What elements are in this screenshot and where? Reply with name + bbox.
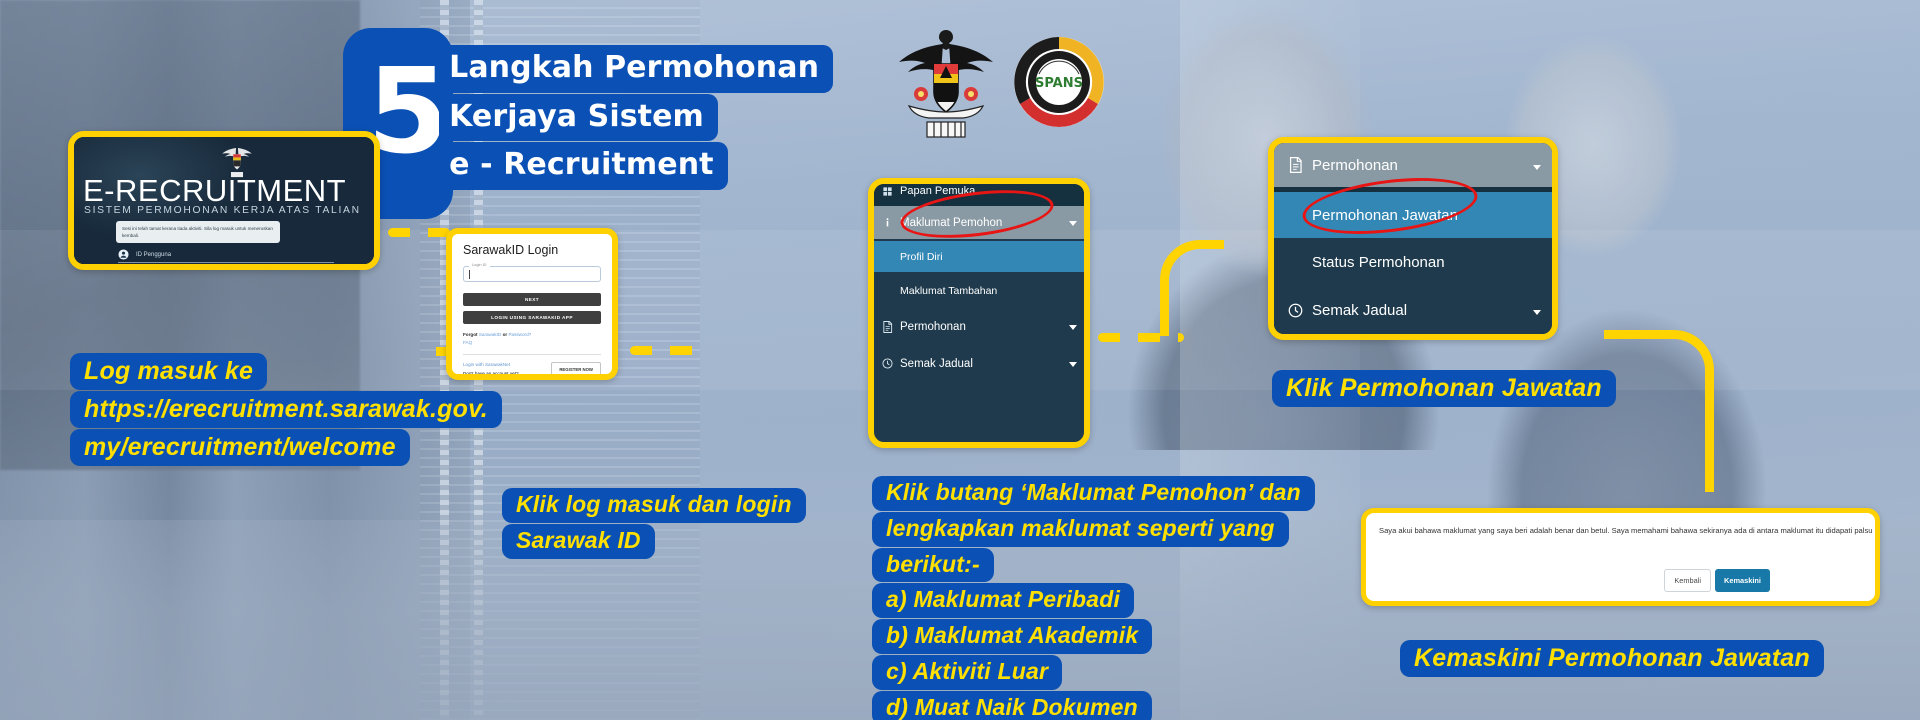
menu-item-permohonan-header[interactable]: Permohonan xyxy=(1274,143,1552,187)
chevron-down-icon-semak-right[interactable] xyxy=(1522,302,1552,319)
caption-mid-line-2: lengkapkan maklumat seperti yang xyxy=(872,512,1289,547)
document-icon-right xyxy=(1278,157,1312,173)
forgot-password-link[interactable]: Password? xyxy=(508,332,531,337)
title-line-3: e - Recruitment xyxy=(439,142,728,190)
caption-permohonan-jawatan: Klik Permohonan Jawatan xyxy=(1272,370,1616,407)
menu-label-papan-pemuka: Papan Pemuka xyxy=(900,185,1084,197)
connector-sid-to-menu xyxy=(630,346,700,355)
erec-session-notice: Sesi ini telah tamat kerana tiada aktivi… xyxy=(116,221,280,243)
caption-sid-line-2: Sarawak ID xyxy=(502,524,655,559)
menu-item-maklumat-pemohon[interactable]: Maklumat Pemohon xyxy=(874,206,1084,239)
permohonan-menu-screenshot[interactable]: Permohonan Permohonan Jawatan Status Per… xyxy=(1268,137,1558,340)
register-now-button[interactable]: REGISTER NOW xyxy=(551,362,601,377)
kemaskini-button[interactable]: Kemaskini xyxy=(1715,569,1770,592)
erec-password-field[interactable]: Kata Laluan xyxy=(118,268,334,270)
sarawak-crest-logo xyxy=(893,22,999,142)
chevron-down-icon-right[interactable] xyxy=(1522,157,1552,174)
caption-sarawak-id: Klik log masuk dan login Sarawak ID xyxy=(502,488,806,560)
caption-login-line-3: my/erecruitment/welcome xyxy=(70,429,410,466)
menu-item-semak-jadual-right[interactable]: Semak Jadual xyxy=(1274,286,1552,334)
chevron-down-icon-semak[interactable] xyxy=(1062,358,1084,370)
caption-kemas-line-1: Kemaskini Permohonan Jawatan xyxy=(1400,640,1824,677)
faq-link[interactable]: FAQ xyxy=(463,340,472,345)
next-button[interactable]: NEXT xyxy=(463,293,601,306)
erec-username-placeholder: ID Pengguna xyxy=(136,252,171,258)
erecruitment-login-screenshot[interactable]: E-RECRUITMENT SISTEM PERMOHONAN KERJA AT… xyxy=(68,131,380,270)
menu-item-profil-diri[interactable]: Profil Diri xyxy=(874,241,1084,272)
sarawakid-title: SarawakID Login xyxy=(463,243,601,257)
text-caret xyxy=(469,270,470,279)
connector-corner-2 xyxy=(1160,240,1224,336)
infographic-canvas: 5 Langkah Permohonan Kerjaya Sistem e - … xyxy=(0,0,1920,720)
menu-label-permohonan-right: Permohonan xyxy=(1312,157,1522,174)
confirmation-text: Saya akui bahawa maklumat yang saya beri… xyxy=(1379,525,1862,538)
caption-login-url: Log masuk ke https://erecruitment.sarawa… xyxy=(70,353,502,467)
connector-corner-3 xyxy=(1604,330,1714,470)
title-line-2: Kerjaya Sistem xyxy=(439,94,718,142)
caption-mid-line-4: a) Maklumat Peribadi xyxy=(872,583,1134,618)
caption-mid-line-7: d) Muat Naik Dokumen xyxy=(872,691,1152,720)
caption-login-line-1: Log masuk ke xyxy=(70,353,267,390)
caption-maklumat-pemohon: Klik butang ‘Maklumat Pemohon’ dan lengk… xyxy=(872,476,1315,720)
connector-right-down xyxy=(1705,430,1714,516)
clock-icon-right xyxy=(1278,303,1312,318)
caption-mid-line-3: berikut:- xyxy=(872,548,994,583)
confirmation-dialog-screenshot[interactable]: Saya akui bahawa maklumat yang saya beri… xyxy=(1361,508,1880,606)
caption-perm-line-1: Klik Permohonan Jawatan xyxy=(1272,370,1616,407)
menu-label-maklumat-tambahan: Maklumat Tambahan xyxy=(900,285,1084,297)
login-id-input[interactable] xyxy=(463,266,601,282)
caption-mid-line-1: Klik butang ‘Maklumat Pemohon’ dan xyxy=(872,476,1315,511)
forgot-or-label: or xyxy=(503,332,508,337)
menu-item-semak-jadual[interactable]: Semak Jadual xyxy=(874,346,1084,381)
menu-label-profil-diri: Profil Diri xyxy=(900,251,1084,263)
erec-brand-title: E-RECRUITMENT xyxy=(83,173,346,209)
chevron-down-icon-permohonan[interactable] xyxy=(1062,321,1084,333)
title-line-1: Langkah Permohonan xyxy=(439,45,833,93)
kembali-button[interactable]: Kembali xyxy=(1664,569,1711,592)
caption-mid-line-6: c) Aktiviti Luar xyxy=(872,655,1062,690)
page-title: 5 Langkah Permohonan Kerjaya Sistem e - … xyxy=(343,28,833,219)
menu-item-maklumat-tambahan[interactable]: Maklumat Tambahan xyxy=(874,274,1084,307)
helper-links: Forgot SarawakID or Password? FAQ xyxy=(463,331,601,347)
menu-label-maklumat-pemohon: Maklumat Pemohon xyxy=(900,217,1062,229)
spans-logo: SPANS xyxy=(1013,36,1105,128)
login-id-group[interactable]: Login ID xyxy=(463,266,601,282)
menu-item-permohonan-jawatan[interactable]: Permohonan Jawatan xyxy=(1274,192,1552,238)
menu-label-status-permohonan: Status Permohonan xyxy=(1312,254,1552,271)
menu-item-papan-pemuka[interactable]: Papan Pemuka xyxy=(874,178,1084,206)
info-icon xyxy=(874,217,900,228)
caption-kemaskini: Kemaskini Permohonan Jawatan xyxy=(1400,640,1824,677)
login-using-app-button[interactable]: LOGIN USING SARAWAKID APP xyxy=(463,311,601,324)
menu-label-semak-jadual-right: Semak Jadual xyxy=(1312,302,1522,319)
erec-username-field[interactable]: ID Pengguna xyxy=(118,247,334,263)
caption-mid-line-5: b) Maklumat Akademik xyxy=(872,619,1152,654)
menu-item-permohonan[interactable]: Permohonan xyxy=(874,309,1084,344)
chevron-down-icon[interactable] xyxy=(1062,217,1084,229)
menu-label-semak-jadual: Semak Jadual xyxy=(900,358,1062,370)
caption-sid-line-1: Klik log masuk dan login xyxy=(502,488,806,523)
user-icon xyxy=(118,249,129,260)
document-icon xyxy=(874,321,900,333)
menu-item-status-permohonan[interactable]: Status Permohonan xyxy=(1274,238,1552,286)
erec-brand-subtitle: SISTEM PERMOHONAN KERJA ATAS TALIAN xyxy=(84,205,361,216)
svg-text:SPANS: SPANS xyxy=(1035,76,1083,91)
clock-icon xyxy=(874,358,900,369)
menu-label-permohonan-jawatan: Permohonan Jawatan xyxy=(1312,207,1552,224)
caption-login-line-2: https://erecruitment.sarawak.gov. xyxy=(70,391,502,428)
dashboard-icon xyxy=(874,186,900,197)
login-id-label: Login ID xyxy=(469,262,490,267)
forgot-sarawakid-link[interactable]: SarawakID xyxy=(479,332,501,337)
title-lines: Langkah Permohonan Kerjaya Sistem e - Re… xyxy=(439,45,833,191)
menu-label-permohonan: Permohonan xyxy=(900,321,1062,333)
applicant-menu-screenshot[interactable]: Papan Pemuka Maklumat Pemohon Profil Dir… xyxy=(868,178,1090,448)
forgot-label: Forgot xyxy=(463,332,478,337)
